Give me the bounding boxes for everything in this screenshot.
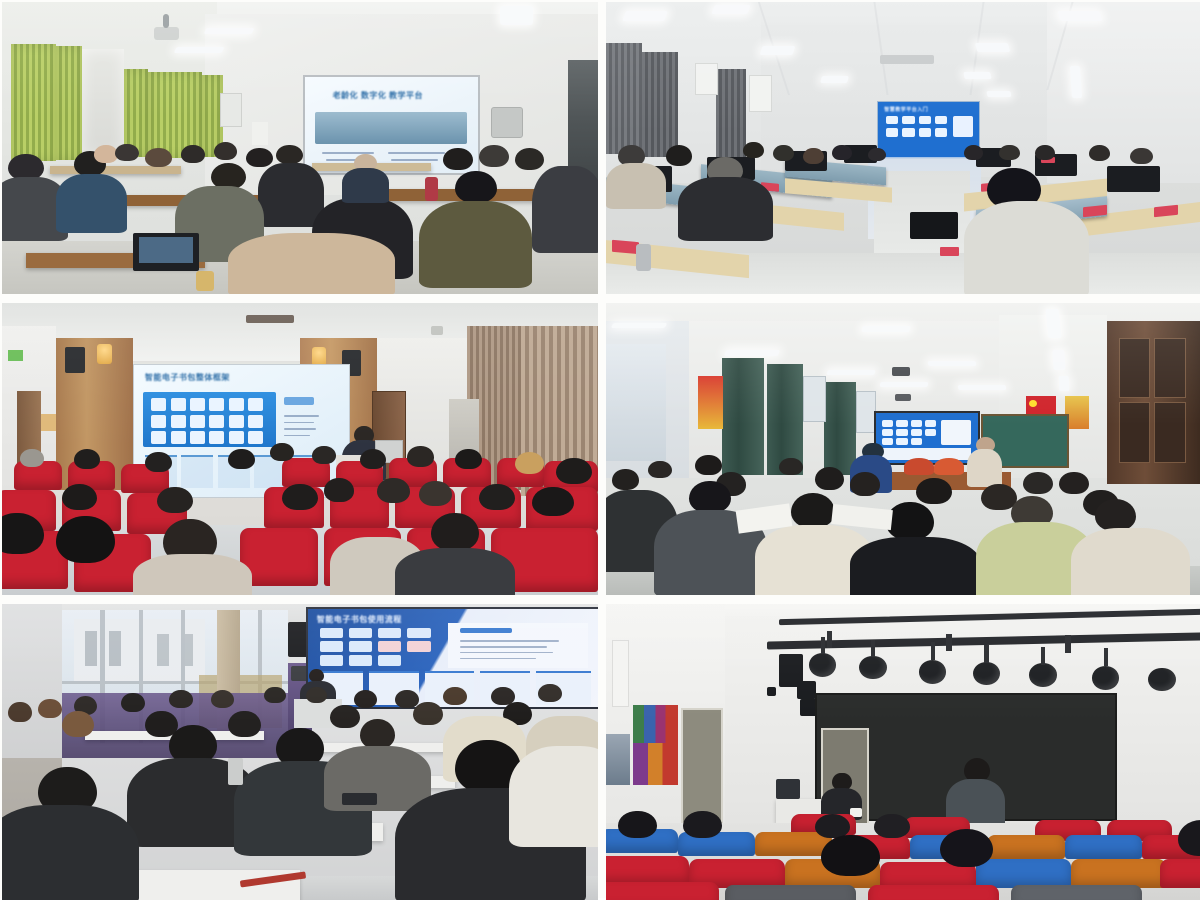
- attendee-head: [1095, 499, 1137, 531]
- attendee-head: [455, 171, 497, 203]
- flower-arrangement: [904, 458, 934, 476]
- attendee-body: [2, 805, 139, 900]
- wall-notice: [695, 63, 718, 94]
- building-window: [109, 631, 121, 667]
- attendee-head: [413, 702, 443, 726]
- speaker-bracket: [767, 687, 777, 696]
- attendee-head: [419, 481, 452, 506]
- locker-door: [1119, 402, 1151, 462]
- locker-door: [1154, 338, 1186, 398]
- collage-photo-bottom-left: 智能电子书包使用流程: [2, 604, 598, 900]
- attendee-head: [62, 484, 98, 510]
- tea-cup: [196, 271, 214, 291]
- wall-notice: [220, 93, 243, 127]
- ceiling-projector: [892, 367, 910, 376]
- attendee-body: [509, 746, 598, 847]
- screen-title: 老龄化 数字化 教学平台: [333, 90, 423, 101]
- attendee-head: [181, 145, 205, 163]
- building-window: [157, 634, 169, 667]
- attendee-head: [431, 513, 479, 551]
- locker-door: [1119, 338, 1151, 398]
- wall-speaker: [431, 326, 443, 335]
- wall-notice: [612, 640, 629, 707]
- window: [606, 344, 666, 461]
- attendee-head: [121, 693, 145, 712]
- ceiling-light: [760, 46, 796, 55]
- attendee-head: [479, 145, 509, 167]
- attendee-head: [916, 478, 952, 504]
- laptop-screen: [139, 237, 193, 263]
- attendee-body: [678, 177, 773, 241]
- attendee-coat: [228, 233, 395, 294]
- attendee-head: [264, 687, 285, 703]
- attendee-head: [354, 690, 378, 708]
- attendee-head: [515, 452, 545, 474]
- window-curtain: [716, 69, 746, 162]
- wall-poster: [698, 376, 723, 429]
- attendee-head: [815, 467, 845, 490]
- ceiling-projector: [154, 27, 179, 40]
- speaker: [65, 347, 85, 373]
- attendee-head: [360, 719, 396, 749]
- attendee-head: [479, 484, 515, 510]
- attendee-body: [133, 554, 252, 595]
- ceiling-light: [1052, 350, 1065, 370]
- attendee-head: [228, 711, 261, 738]
- attendee-head: [20, 449, 44, 467]
- collage-photo-top-right: 智慧教学平台入门: [606, 2, 1200, 294]
- ceiling-light: [820, 76, 849, 83]
- window-curtain: [642, 52, 678, 157]
- ceiling-light: [724, 350, 780, 356]
- ceiling-light: [963, 72, 991, 79]
- thermos: [228, 758, 243, 785]
- attendee-head: [211, 690, 235, 708]
- ceiling-speaker: [895, 394, 910, 402]
- attendee-head: [1035, 145, 1055, 160]
- ceiling-light: [927, 361, 976, 366]
- attendee-head: [1059, 472, 1089, 494]
- attendee-body: [1071, 528, 1190, 595]
- window-glass: [803, 376, 826, 422]
- attendee-head: [270, 443, 294, 461]
- air-vent: [880, 55, 934, 64]
- ceiling-light: [500, 6, 533, 25]
- attendee-head: [940, 829, 994, 867]
- attendee-head: [832, 145, 851, 160]
- attendee-head: [538, 684, 562, 702]
- attendee-head: [312, 446, 336, 464]
- attendee-head: [395, 690, 419, 708]
- stage-light: [1148, 668, 1175, 692]
- flower-arrangement: [934, 458, 964, 476]
- attendee-head: [360, 449, 387, 469]
- wall-photo: [606, 734, 630, 784]
- presenter-body: [967, 449, 1003, 487]
- wall-sconce: [97, 344, 112, 364]
- stage-light: [859, 656, 886, 680]
- attendee-body: [258, 163, 324, 227]
- attendee-head: [115, 144, 139, 162]
- attendee-head: [377, 478, 410, 503]
- ceiling-light: [826, 370, 875, 375]
- attendee-head: [145, 148, 172, 167]
- attendee-head: [964, 145, 983, 160]
- attendee-head: [246, 148, 273, 167]
- attendee-head: [443, 148, 473, 170]
- attendee-head: [211, 163, 247, 189]
- attendee-head: [648, 461, 672, 479]
- ceiling-light: [862, 326, 911, 332]
- ceiling-light: [880, 382, 928, 387]
- attendee-head: [773, 145, 794, 161]
- screen-title: 智能电子书包整体框架: [145, 372, 230, 383]
- ceiling-light: [622, 11, 667, 21]
- window-curtain: [11, 44, 56, 161]
- projector-mount: [163, 14, 170, 29]
- interactive-display[interactable]: [874, 411, 979, 465]
- attendee-head: [228, 449, 255, 469]
- attendee-head: [455, 449, 482, 469]
- attendee-head: [868, 148, 886, 161]
- ceiling-projector: [246, 315, 294, 324]
- window-curtain: [824, 382, 857, 475]
- screen-title: 智能电子书包使用流程: [317, 614, 402, 625]
- attendee-head: [145, 452, 172, 472]
- ceiling-light: [203, 28, 254, 34]
- left-wall: [2, 604, 62, 767]
- window-curtain: [606, 43, 642, 154]
- collage-photo-middle-right: [606, 303, 1200, 595]
- attendee-head: [1089, 145, 1110, 161]
- attendee-head: [803, 148, 824, 164]
- attendee-head: [330, 705, 360, 729]
- collage-photo-middle-left: 智能电子书包整体框架: [2, 303, 598, 595]
- thermos: [636, 244, 651, 270]
- attendee-body: [850, 537, 981, 595]
- attendee-head: [214, 142, 238, 160]
- attendee-head: [324, 478, 354, 501]
- attendee-head: [618, 811, 657, 838]
- attendee-body: [964, 201, 1089, 294]
- window-glass: [82, 49, 124, 157]
- wall-panel: [491, 107, 523, 138]
- attendee-head: [743, 142, 764, 158]
- attendee-head: [791, 493, 836, 528]
- collage-photo-top-left: 老龄化 数字化 教学平台: [2, 2, 598, 294]
- attendee-head: [276, 145, 303, 164]
- attendee-head: [74, 449, 101, 469]
- locker-door: [1154, 402, 1186, 462]
- attendee-head: [169, 690, 193, 708]
- attendee-head: [874, 814, 910, 838]
- wall-poster: [633, 743, 678, 784]
- attendee-head: [38, 699, 62, 718]
- building-window: [85, 631, 97, 667]
- monitor: [776, 779, 800, 800]
- ceiling-light: [173, 47, 224, 53]
- attendee-head: [556, 458, 592, 484]
- attendee-head: [306, 687, 327, 703]
- wall-notice: [749, 75, 772, 112]
- attendee-head: [56, 516, 116, 563]
- attendee-body: [324, 746, 431, 811]
- attendee-head: [1130, 148, 1153, 164]
- attendee-head: [779, 458, 803, 476]
- attendee-head: [999, 145, 1019, 160]
- stage-light: [809, 653, 836, 677]
- ceiling-light: [974, 43, 1009, 52]
- door[interactable]: [681, 708, 724, 824]
- ceiling-light: [987, 91, 1012, 97]
- pa-speaker: [797, 681, 816, 699]
- ceiling-light: [957, 385, 1005, 390]
- attendee-head: [282, 484, 318, 510]
- ceiling-light: [611, 323, 667, 328]
- ceiling-light: [712, 5, 751, 14]
- stage-light: [919, 660, 946, 684]
- monitor: [910, 212, 958, 238]
- photo-collage: 老龄化 数字化 教学平台: [0, 0, 1200, 898]
- attendee-head: [689, 481, 731, 513]
- stage-light: [973, 662, 1000, 686]
- name-card: [940, 247, 959, 256]
- attendee-body: [606, 163, 666, 210]
- water-bottle: [425, 177, 438, 200]
- attendee-body: [419, 201, 532, 289]
- presenter-body: [342, 168, 390, 203]
- attendee-head: [886, 502, 934, 540]
- wall-notice: [41, 414, 56, 432]
- wall-sconce: [312, 347, 326, 366]
- ceiling-light: [1057, 11, 1102, 21]
- window-curtain: [722, 358, 764, 475]
- attendee-head: [695, 455, 722, 475]
- attendee-head: [821, 835, 881, 876]
- ceiling-light: [1059, 376, 1069, 391]
- attendee-body: [532, 166, 598, 254]
- smartphone: [342, 793, 378, 805]
- collage-photo-bottom-right: [606, 604, 1200, 900]
- attendee-head: [157, 487, 193, 513]
- window-curtain: [56, 46, 83, 160]
- attendee-head: [443, 687, 467, 705]
- attendee-body: [56, 174, 128, 232]
- attendee-head: [683, 811, 722, 838]
- attendee-head: [62, 711, 95, 738]
- attendee-head: [612, 469, 639, 489]
- attendee-head: [515, 148, 545, 170]
- monitor: [1107, 166, 1161, 192]
- attendee-head: [8, 702, 32, 723]
- attendee-head: [8, 154, 44, 180]
- exit-sign: [8, 350, 23, 362]
- attendee-head: [1023, 472, 1053, 494]
- screen-title: 智慧教学平台入门: [884, 106, 928, 113]
- wall-notice: [252, 122, 267, 145]
- stage-light: [1029, 663, 1056, 687]
- attendee-head: [850, 472, 880, 495]
- attendee-head: [532, 487, 574, 516]
- stage-light: [1092, 666, 1119, 690]
- screen-watermark: [948, 699, 950, 705]
- attendee-body: [395, 548, 514, 595]
- attendee-head: [666, 145, 693, 165]
- attendee-head: [407, 446, 434, 466]
- ceiling-light: [1070, 66, 1082, 98]
